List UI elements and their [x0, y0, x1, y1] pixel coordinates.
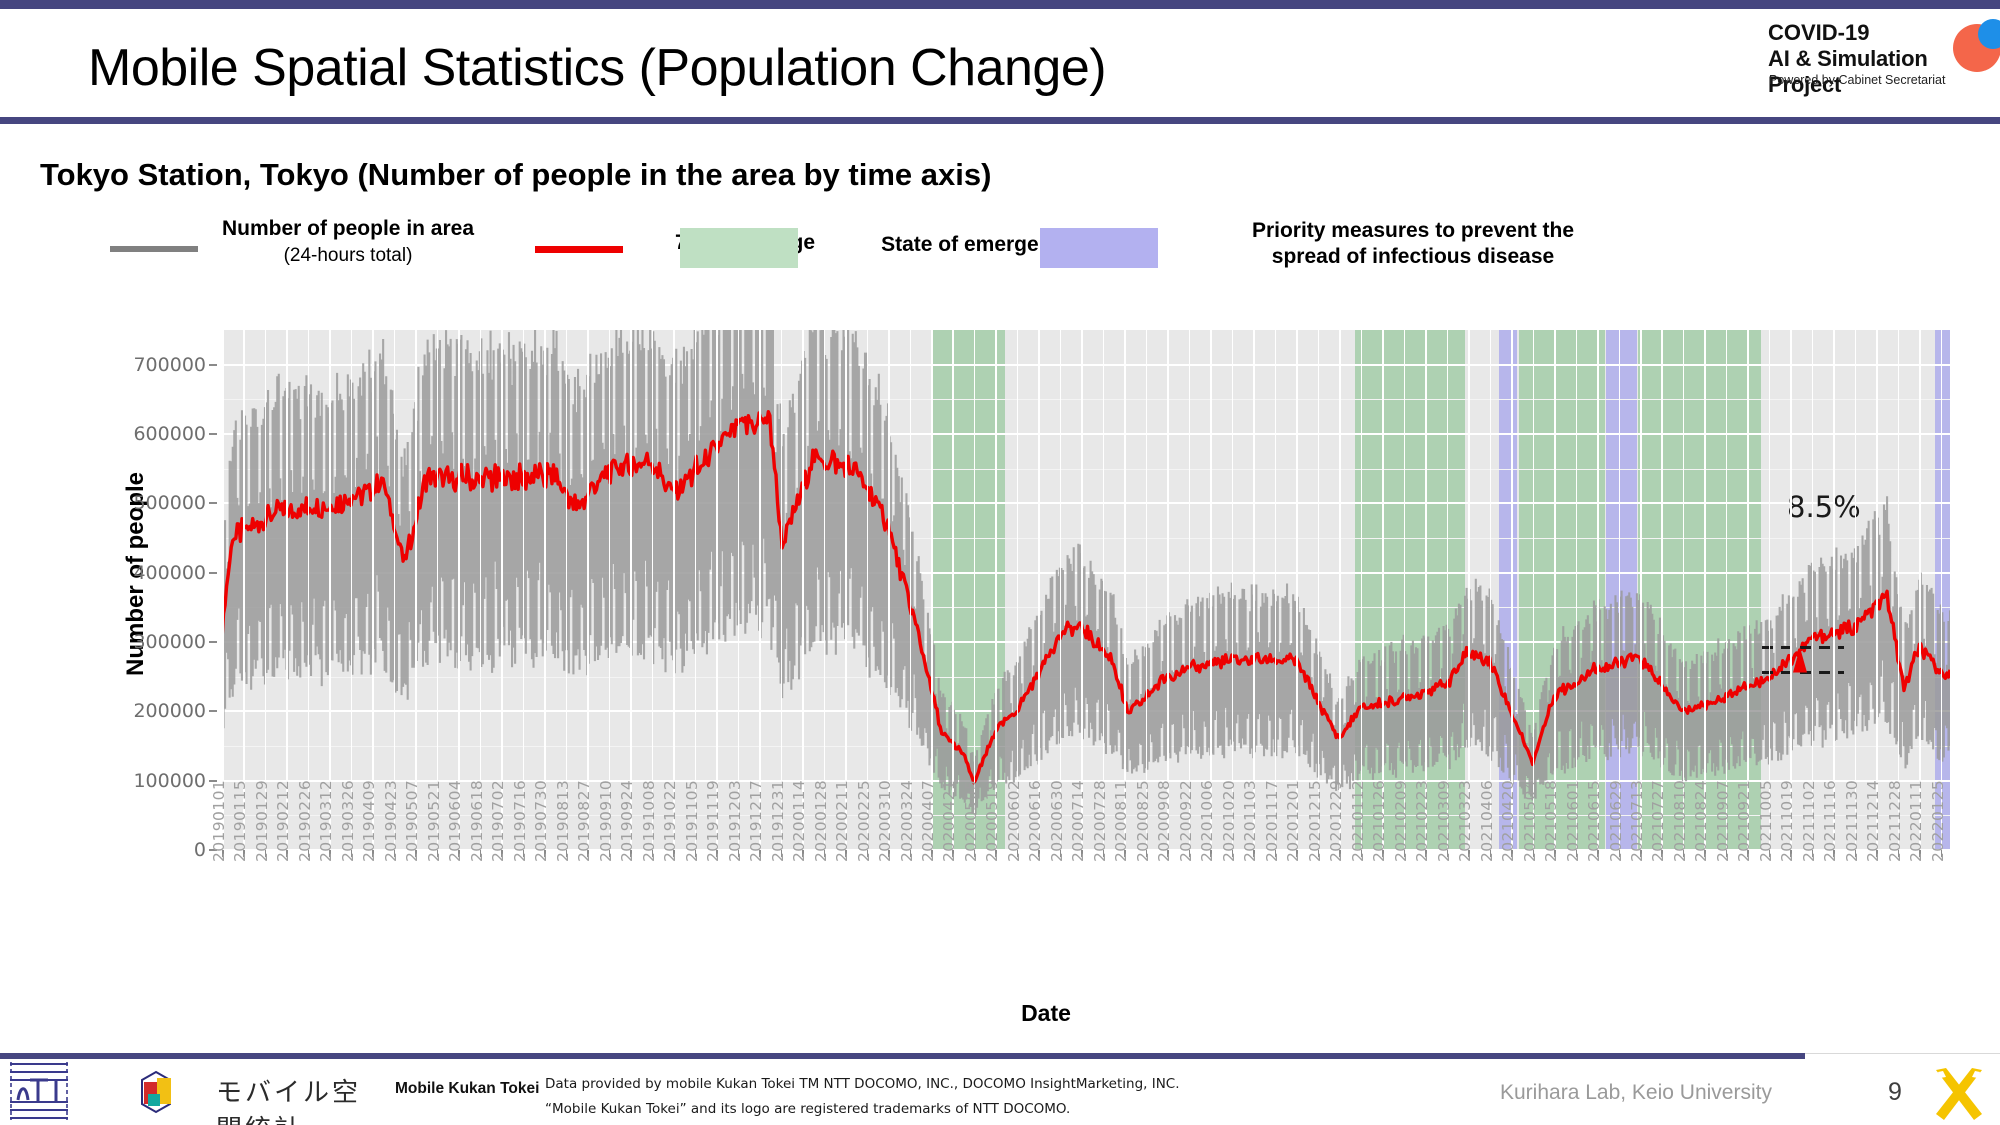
x-axis-tick-label: 20210629 — [1607, 780, 1625, 862]
footer-brand-label: Mobile Kukan Tokei — [395, 1080, 539, 1098]
x-axis-tick-label: 20200602 — [1005, 780, 1023, 862]
gridline-vertical — [1275, 330, 1277, 850]
x-axis-tick-label: 20210126 — [1370, 780, 1388, 862]
gridline-vertical — [1876, 330, 1878, 850]
x-axis-tick-label: 20210727 — [1649, 780, 1667, 862]
footer-lab-label: Kurihara Lab, Keio University — [1500, 1081, 1772, 1105]
x-axis-tick-label: 20200114 — [790, 780, 808, 862]
x-axis-tick-label: 20190827 — [575, 780, 593, 862]
footer-note-line2: “Mobile Kukan Tokei” and its logo are re… — [545, 1097, 1180, 1122]
x-axis-tick-label: 20200825 — [1134, 780, 1152, 862]
page-number: 9 — [1888, 1078, 1902, 1107]
gridline-vertical — [630, 330, 632, 850]
slide-root: Mobile Spatial Statistics (Population Ch… — [0, 0, 2000, 1125]
x-axis-tick-label: 20190226 — [296, 780, 314, 862]
x-axis-tick-label: 20190604 — [446, 780, 464, 862]
gridline-vertical — [394, 330, 396, 850]
gridline-vertical — [1124, 330, 1126, 850]
x-axis-tick-label: 20210713 — [1628, 780, 1646, 862]
x-axis-tick-label: 20200128 — [812, 780, 830, 862]
chart-container: Number of people 01000002000003000004000… — [40, 330, 1960, 950]
gridline-vertical — [738, 330, 740, 850]
x-axis-tick-label: 20210420 — [1499, 780, 1517, 862]
x-axis-tick-label: 20190924 — [618, 780, 636, 862]
x-axis-tick-label: 20191105 — [683, 780, 701, 862]
legend-label-priority-measures: Priority measures to prevent the spread … — [1178, 218, 1648, 270]
gridline-vertical — [1919, 330, 1921, 850]
x-axis-tick-label: 20200505 — [962, 780, 980, 862]
x-axis-tick-label: 20190115 — [231, 780, 249, 862]
x-axis-tick-label: 20200225 — [855, 780, 873, 862]
y-axis-tickmark — [209, 502, 217, 504]
gridline-vertical — [845, 330, 847, 850]
x-axis-tick-label: 20191119 — [704, 780, 722, 862]
x-axis-tick-label: 20210504 — [1521, 780, 1539, 862]
gridline-vertical — [1533, 330, 1535, 850]
chart-legend: Number of people in area (24-hours total… — [110, 222, 1950, 288]
gridline-vertical — [1726, 330, 1728, 850]
gridline-vertical — [372, 330, 374, 850]
x-axis-tick-label: 20200310 — [876, 780, 894, 862]
gridline-vertical — [458, 330, 460, 850]
gridline-vertical — [566, 330, 568, 850]
mobile-kukan-tokei-mark-icon — [8, 1060, 70, 1122]
x-axis-tick-label: 20191203 — [726, 780, 744, 862]
x-axis-tick-label: 20190129 — [253, 780, 271, 862]
gridline-vertical — [1404, 330, 1406, 850]
legend-label-priority-line1: Priority measures to prevent the — [1252, 219, 1574, 242]
x-axis-tick-label: 20200519 — [983, 780, 1001, 862]
gridline-vertical — [501, 330, 503, 850]
top-accent-bar — [0, 0, 2000, 9]
gridline-vertical — [1619, 330, 1621, 850]
x-axis-tick-label: 20210810 — [1671, 780, 1689, 862]
title-underline-bar — [0, 117, 2000, 124]
gridline-vertical — [1511, 330, 1513, 850]
x-axis-tick-label: 20190716 — [511, 780, 529, 862]
x-axis-tick-label: 20190326 — [339, 780, 357, 862]
x-axis-tick-label: 20191231 — [769, 780, 787, 862]
x-axis-tick-label: 20201201 — [1284, 780, 1302, 862]
gridline-vertical — [1232, 330, 1234, 850]
y-axis-tick-label: 500000 — [133, 492, 206, 514]
x-axis-tick-label: 20190813 — [554, 780, 572, 862]
gridline-vertical — [1382, 330, 1384, 850]
gridline-vertical — [1941, 330, 1943, 850]
gridline-vertical — [1103, 330, 1105, 850]
x-axis-tick-label: 20200630 — [1048, 780, 1066, 862]
gridline-vertical — [1597, 330, 1599, 850]
gridline-vertical — [329, 330, 331, 850]
x-axis-tick-label: 20200407 — [919, 780, 937, 862]
y-axis-tickmark — [209, 433, 217, 435]
gridline-vertical — [587, 330, 589, 850]
footer-right-rule — [1805, 1053, 2000, 1059]
x-axis-tick-label: 20201006 — [1198, 780, 1216, 862]
x-axis-tick-label: 20211102 — [1800, 780, 1818, 862]
y-axis-ticks: 0100000200000300000400000500000600000700… — [100, 330, 220, 850]
x-axis-tick-label: 20210406 — [1478, 780, 1496, 862]
x-axis-tick-label: 20190730 — [532, 780, 550, 862]
x-axis-tick-label: 20211130 — [1843, 780, 1861, 862]
gridline-vertical — [1447, 330, 1449, 850]
logo-blue-circle-icon — [1978, 19, 2000, 49]
y-axis-tick-label: 200000 — [133, 700, 206, 722]
legend-label-number-of-people: Number of people in area (24-hours total… — [188, 216, 508, 269]
gridline-vertical — [1790, 330, 1792, 850]
gridline-vertical — [1146, 330, 1148, 850]
gridline-vertical — [695, 330, 697, 850]
gridline-vertical — [1468, 330, 1470, 850]
gridline-vertical — [931, 330, 933, 850]
gridline-vertical — [781, 330, 783, 850]
x-axis-tick-label: 20210323 — [1456, 780, 1474, 862]
x-axis-tick-label: 20190409 — [360, 780, 378, 862]
mkt-logo-text: モバイル空間統計 — [216, 1072, 378, 1125]
page-title: Mobile Spatial Statistics (Population Ch… — [88, 38, 1106, 98]
gridline-vertical — [1425, 330, 1427, 850]
x-axis-tick-label: 20210309 — [1435, 780, 1453, 862]
gridline-vertical — [824, 330, 826, 850]
x-axis-tick-label: 20200616 — [1026, 780, 1044, 862]
x-axis-tick-label: 20210209 — [1392, 780, 1410, 862]
x-axis-title: Date — [182, 1000, 1910, 1027]
logo-line-covid19: COVID-19 — [1768, 20, 1869, 46]
x-axis-tick-label: 20211005 — [1757, 780, 1775, 862]
gridline-vertical — [1296, 330, 1298, 850]
gridline-vertical — [888, 330, 890, 850]
y-axis-tickmark — [209, 710, 217, 712]
x-axis-tick-label: 20211116 — [1821, 780, 1839, 862]
x-axis-tick-label: 20190618 — [468, 780, 486, 862]
x-axis-tick-label: 20210907 — [1714, 780, 1732, 862]
gridline-vertical — [1210, 330, 1212, 850]
x-axis-tick-label: 20190212 — [274, 780, 292, 862]
y-axis-tick-label: 0 — [194, 839, 206, 861]
x-axis-tick-label: 20191008 — [640, 780, 658, 862]
x-axis-tick-label: 20200728 — [1091, 780, 1109, 862]
x-axis-tick-label: 20210223 — [1413, 780, 1431, 862]
y-axis-tick-label: 100000 — [133, 770, 206, 792]
footer-note-line1: Data provided by mobile Kukan Tokei TM N… — [545, 1072, 1180, 1097]
x-axis-tick-label: 20190312 — [317, 780, 335, 862]
gridline-vertical — [265, 330, 267, 850]
x-axis-tick-label: 20201229 — [1327, 780, 1345, 862]
gridline-vertical — [1704, 330, 1706, 850]
logo-line-powered-by: Powered by Cabinet Secretariat — [1769, 73, 1945, 87]
legend-label-line1: Number of people in area — [222, 217, 474, 240]
footer-accent-bar — [0, 1053, 1805, 1059]
y-axis-tick-label: 400000 — [133, 562, 206, 584]
logo-line-project: AI & Simulation Project — [1768, 46, 1988, 98]
gridline-vertical — [802, 330, 804, 850]
gridline-vertical — [952, 330, 954, 850]
x-axis-tick-label: 20210615 — [1585, 780, 1603, 862]
gridline-vertical — [243, 330, 245, 850]
chart-heading: Tokyo Station, Tokyo (Number of people i… — [40, 157, 991, 193]
y-axis-tick-label: 300000 — [133, 631, 206, 653]
gridline-vertical — [1812, 330, 1814, 850]
x-axis-tick-label: 20201020 — [1220, 780, 1238, 862]
y-axis-tickmark — [209, 572, 217, 574]
keio-pen-mark-icon — [1930, 1066, 1988, 1122]
x-axis-tick-label: 20190101 — [210, 780, 228, 862]
x-axis-tick-label: 20211228 — [1886, 780, 1904, 862]
gridline-vertical — [1833, 330, 1835, 850]
gridline-vertical — [1339, 330, 1341, 850]
x-axis-tick-label: 20211019 — [1778, 780, 1796, 862]
footer-data-note: Data provided by mobile Kukan Tokei TM N… — [545, 1072, 1180, 1122]
x-axis-tick-label: 20210921 — [1735, 780, 1753, 862]
x-axis-tick-label: 20200211 — [833, 780, 851, 862]
annotation-percent-label: 8.5% — [1787, 490, 1861, 524]
y-axis-tickmark — [209, 641, 217, 643]
gridline-vertical — [1898, 330, 1900, 850]
x-axis-tick-label: 20191022 — [661, 780, 679, 862]
gridline-vertical — [1318, 330, 1320, 850]
x-axis-tick-label: 20191217 — [747, 780, 765, 862]
mobile-kukan-tokei-logo: モバイル空間統計 — [108, 1068, 378, 1116]
legend-swatch-purple-box-icon — [1040, 228, 1158, 268]
gridline-vertical — [1361, 330, 1363, 850]
gridline-vertical — [716, 330, 718, 850]
gridline-vertical — [1554, 330, 1556, 850]
x-axis-tick-label: 20200324 — [898, 780, 916, 862]
gridline-vertical — [1576, 330, 1578, 850]
x-axis-tick-label: 20201117 — [1263, 780, 1281, 862]
gridline-vertical — [1490, 330, 1492, 850]
x-axis-tick-label: 20210824 — [1692, 780, 1710, 862]
covid19-project-logo: COVID-19 AI & Simulation Project Powered… — [1768, 18, 1988, 98]
gridline-vertical — [1017, 330, 1019, 850]
x-axis-tick-label: 20200421 — [940, 780, 958, 862]
x-axis-tick-label: 20210112 — [1349, 780, 1367, 862]
gridline-vertical — [415, 330, 417, 850]
gridline-vertical — [867, 330, 869, 850]
legend-label-line2: (24-hours total) — [284, 245, 413, 266]
x-axis-tick-label: 20190910 — [597, 780, 615, 862]
gridline-vertical — [1253, 330, 1255, 850]
gridline-vertical — [652, 330, 654, 850]
x-axis-tick-label: 20201215 — [1306, 780, 1324, 862]
x-axis-tick-label: 20200922 — [1177, 780, 1195, 862]
gridline-vertical — [1060, 330, 1062, 850]
x-axis-tick-label: 20200811 — [1112, 780, 1130, 862]
gridline-vertical — [1769, 330, 1771, 850]
y-axis-tick-label: 600000 — [133, 423, 206, 445]
y-axis-tickmark — [209, 364, 217, 366]
gridline-vertical — [1640, 330, 1642, 850]
gridline-vertical — [222, 330, 224, 850]
x-axis-tick-label: 20190507 — [403, 780, 421, 862]
legend-swatch-red-line-icon — [535, 246, 623, 253]
legend-label-priority-line2: spread of infectious disease — [1272, 245, 1554, 268]
x-axis-tick-label: 20210518 — [1542, 780, 1560, 862]
gridline-vertical — [480, 330, 482, 850]
gridline-vertical — [1855, 330, 1857, 850]
gridline-vertical — [1167, 330, 1169, 850]
gridline-vertical — [673, 330, 675, 850]
gridline-vertical — [1189, 330, 1191, 850]
gridline-vertical — [759, 330, 761, 850]
x-axis-tick-label: 20190423 — [382, 780, 400, 862]
gridline-vertical — [286, 330, 288, 850]
y-axis-tick-label: 700000 — [133, 354, 206, 376]
x-axis-tick-label: 20200908 — [1155, 780, 1173, 862]
mkt-logo-glyph-icon — [108, 1068, 204, 1114]
legend-swatch-green-box-icon — [680, 228, 798, 268]
x-axis-tick-label: 20200714 — [1069, 780, 1087, 862]
gridline-vertical — [609, 330, 611, 850]
gridline-vertical — [1081, 330, 1083, 850]
gridline-vertical — [351, 330, 353, 850]
x-axis-tick-label: 20190702 — [489, 780, 507, 862]
plot-area: 8.5% — [222, 330, 1950, 850]
gridline-vertical — [910, 330, 912, 850]
gridline-vertical — [1683, 330, 1685, 850]
x-axis-tick-label: 20220125 — [1929, 780, 1947, 862]
x-axis-tick-label: 20201103 — [1241, 780, 1259, 862]
gridline-vertical — [308, 330, 310, 850]
gridline-vertical — [544, 330, 546, 850]
gridline-vertical — [523, 330, 525, 850]
legend-swatch-gray-line-icon — [110, 246, 198, 252]
gridline-vertical — [995, 330, 997, 850]
gridline-vertical — [437, 330, 439, 850]
x-axis-tick-label: 20210601 — [1564, 780, 1582, 862]
x-axis-tick-label: 20220111 — [1907, 780, 1925, 862]
gridline-vertical — [1038, 330, 1040, 850]
x-axis-tick-label: 20190521 — [425, 780, 443, 862]
gridline-vertical — [974, 330, 976, 850]
gridline-vertical — [1661, 330, 1663, 850]
x-axis-ticks: 2019010120190115201901292019021220190226… — [222, 850, 1950, 1010]
x-axis-tick-label: 20211214 — [1864, 780, 1882, 862]
gridline-vertical — [1747, 330, 1749, 850]
